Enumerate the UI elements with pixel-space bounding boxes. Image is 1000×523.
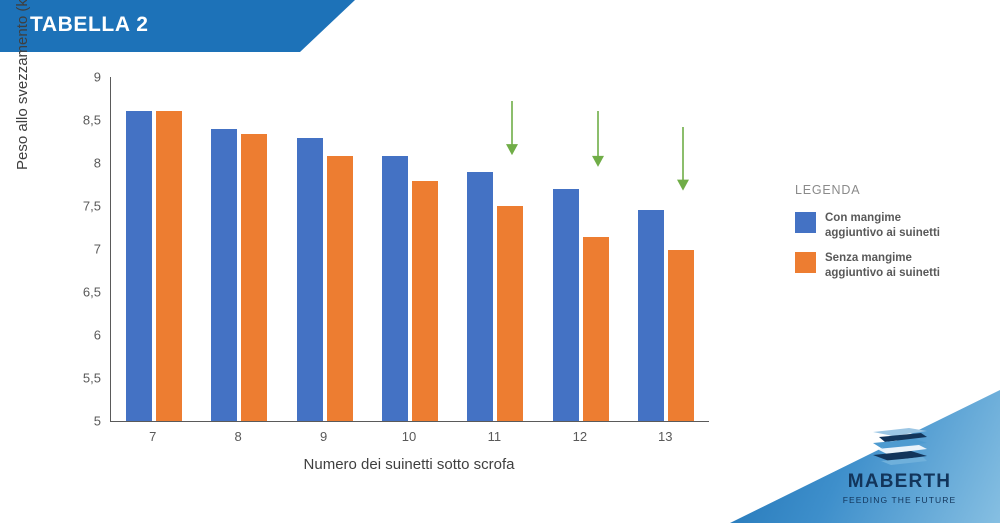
x-axis-tick-label: 11 [488, 429, 502, 444]
page-title: TABELLA 2 [30, 13, 149, 37]
x-axis-tick-label: 10 [402, 429, 416, 444]
bar [156, 111, 182, 421]
bar [583, 237, 609, 421]
y-axis-tick-label: 5,5 [55, 371, 101, 386]
bar [297, 138, 323, 421]
y-axis-tick-label: 5 [55, 414, 101, 429]
x-axis-tick-label: 12 [573, 429, 587, 444]
legend-swatch [795, 252, 816, 273]
legend-item[interactable]: Con mangimeaggiuntivo ai suinetti [795, 211, 975, 242]
bar [412, 181, 438, 421]
bar-group [111, 77, 196, 421]
x-axis-tick-label: 8 [235, 429, 242, 444]
bar [382, 156, 408, 421]
legend-item-label-line1: Senza mangime [825, 251, 940, 266]
y-axis-tick-labels: 98,587,576,565,55 [55, 77, 101, 421]
y-axis-tick-label: 7,5 [55, 199, 101, 214]
bar [638, 210, 664, 421]
bar-group [282, 77, 367, 421]
legend-item-label-line1: Con mangime [825, 211, 940, 226]
legend-item-label-line2: aggiuntivo ai suinetti [825, 266, 940, 281]
x-axis-tick-label: 13 [658, 429, 672, 444]
legend-title: LEGENDA [795, 183, 975, 197]
legend-item-label: Senza mangimeaggiuntivo ai suinetti [825, 251, 940, 282]
brand-logo: MABERTH FEEDING THE FUTURE [817, 426, 982, 505]
x-axis-tick-labels: 78910111213 [110, 429, 708, 449]
bar [497, 206, 523, 421]
y-axis-title: Peso allo svezzamento (kg) [14, 0, 31, 170]
bar [126, 111, 152, 421]
legend: LEGENDA Con mangimeaggiuntivo ai suinett… [795, 183, 975, 290]
bar-group [624, 77, 709, 421]
annotation-arrow-down-icon [504, 101, 520, 155]
annotation-arrow-down-icon [590, 111, 606, 167]
x-axis-tick-label: 7 [149, 429, 156, 444]
legend-item-label: Con mangimeaggiuntivo ai suinetti [825, 211, 940, 242]
y-axis-tick-label: 6,5 [55, 285, 101, 300]
legend-item-label-line2: aggiuntivo ai suinetti [825, 226, 940, 241]
bar [241, 134, 267, 421]
annotation-arrow-down-icon [675, 127, 691, 191]
bar-group [196, 77, 281, 421]
bar [327, 156, 353, 421]
bar [668, 250, 694, 421]
y-axis-tick-label: 8 [55, 156, 101, 171]
maberth-logo-icon [869, 426, 931, 466]
plot-area [110, 77, 709, 422]
legend-swatch [795, 212, 816, 233]
bar-group [538, 77, 623, 421]
bar [553, 189, 579, 421]
bar-group [367, 77, 452, 421]
bar [211, 129, 237, 421]
y-axis-tick-label: 7 [55, 242, 101, 257]
x-axis-title: Numero dei suinetti sotto scrofa [110, 456, 708, 473]
y-axis-tick-label: 9 [55, 70, 101, 85]
chart-container: Peso allo svezzamento (kg) 98,587,576,56… [0, 52, 780, 523]
x-axis-tick-label: 9 [320, 429, 327, 444]
y-axis-tick-label: 8,5 [55, 113, 101, 128]
brand-tagline: FEEDING THE FUTURE [817, 495, 982, 505]
y-axis-tick-label: 6 [55, 328, 101, 343]
legend-item[interactable]: Senza mangimeaggiuntivo ai suinetti [795, 251, 975, 282]
brand-name: MABERTH [817, 472, 982, 491]
bar-group [453, 77, 538, 421]
bar [467, 172, 493, 421]
